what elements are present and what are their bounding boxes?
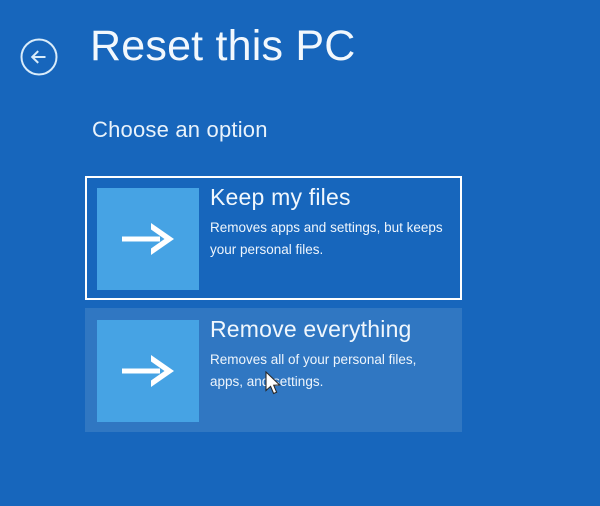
option-description: Removes all of your personal files, apps…: [210, 349, 452, 393]
option-icon-container: [97, 320, 199, 422]
option-icon-container: [97, 188, 199, 290]
option-description: Removes apps and settings, but keeps you…: [210, 217, 452, 261]
choose-option-subtitle: Choose an option: [92, 117, 268, 143]
option-title: Remove everything: [210, 314, 452, 345]
page-title: Reset this PC: [90, 19, 355, 74]
option-remove-everything[interactable]: Remove everything Removes all of your pe…: [85, 308, 462, 432]
option-title: Keep my files: [210, 182, 452, 213]
arrow-right-icon: [120, 219, 176, 259]
option-text-container: Keep my files Removes apps and settings,…: [210, 182, 452, 261]
option-keep-my-files[interactable]: Keep my files Removes apps and settings,…: [85, 176, 462, 300]
back-button[interactable]: [18, 36, 60, 78]
arrow-right-icon: [120, 351, 176, 391]
header: Reset this PC: [0, 0, 600, 100]
option-text-container: Remove everything Removes all of your pe…: [210, 314, 452, 393]
back-arrow-circle-icon: [18, 36, 60, 78]
